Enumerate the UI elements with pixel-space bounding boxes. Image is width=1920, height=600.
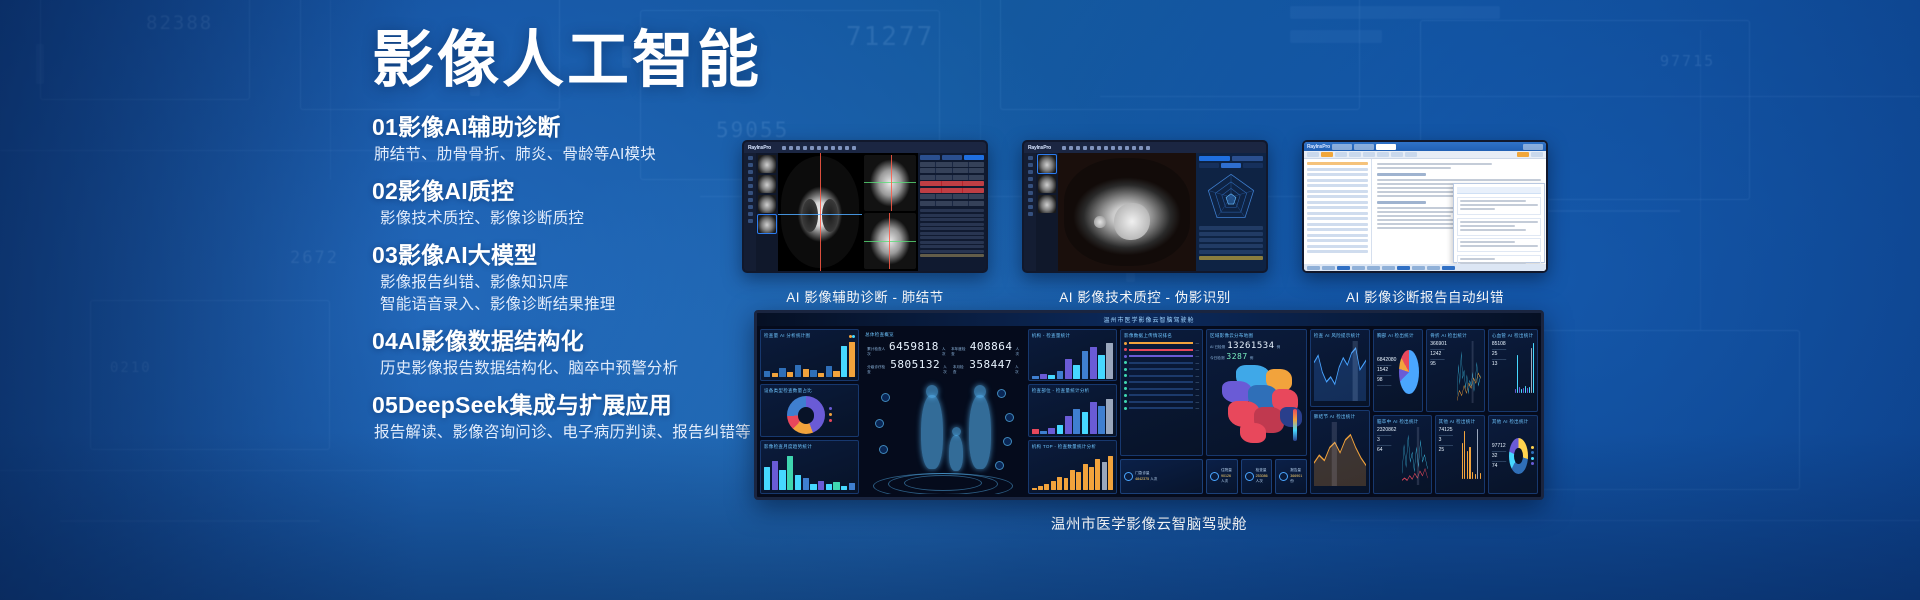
area-chart xyxy=(1314,422,1366,486)
tab[interactable] xyxy=(1354,144,1374,150)
kpi-stack: 85108 ———— 25 ———— 13 xyxy=(1492,341,1512,403)
series-thumbnail-list[interactable] xyxy=(756,153,778,271)
stat-chip[interactable]: 报告量 366901 份 xyxy=(1275,459,1307,494)
kpi-row: AI 已检测 13261534 例 xyxy=(1210,341,1303,351)
line-chart xyxy=(1402,427,1428,485)
donut-chart xyxy=(1509,438,1528,474)
kpi-unit: 人次 xyxy=(943,365,950,375)
qc-radar-chart xyxy=(1199,170,1263,224)
series-thumb[interactable] xyxy=(1038,195,1056,213)
dashboard-grid: 检查量 AI 分析统计图 设备类型检查数量占 xyxy=(757,326,1541,497)
hologram-hotspot xyxy=(997,389,1006,398)
kpi-stack: 97712 ———— 32 ———— 74 xyxy=(1492,443,1506,469)
finding-row-alert[interactable] xyxy=(920,188,984,193)
finding-row-alert[interactable] xyxy=(920,181,984,186)
dashboard-column-2: 总体检查概览 累计检查人次 6459818 人次 本年度检查 408864 人次… xyxy=(862,329,1025,494)
table-row[interactable]: — xyxy=(1124,367,1199,371)
chip-unit: 人次 xyxy=(1150,477,1157,481)
crosshair-vertical xyxy=(820,153,821,271)
app-logo: RayInsPro xyxy=(1307,144,1330,150)
mediastinum xyxy=(1114,203,1149,240)
dashboard-title-bar: 温州市医学影像云智脑驾驶舱 xyxy=(757,313,1541,326)
correction-card[interactable] xyxy=(1457,218,1541,236)
stat-chip[interactable]: 门急诊量 4842375 人次 xyxy=(1120,459,1203,494)
table-row[interactable]: — xyxy=(1124,354,1199,358)
hologram-hotspot xyxy=(879,445,888,454)
hologram-hotspot xyxy=(881,393,890,402)
panel-title: 总体检查概览 xyxy=(865,332,894,338)
stat-chip[interactable]: 住院量 90126 人次 xyxy=(1206,459,1238,494)
chip-value: 4842375 xyxy=(1135,477,1149,481)
panel-title: 其他 AI 检出统计 xyxy=(1492,419,1529,425)
dashboard-column-7: 胸部 AI 检出统计 6842080 ———— 1542 ———— 98 ———… xyxy=(1373,329,1538,494)
hud-number: 71277 xyxy=(846,22,934,52)
hologram-hotspot xyxy=(1005,413,1014,422)
panel-device-share-donut[interactable]: 设备类型检查数量占比 xyxy=(760,384,859,436)
table-row[interactable]: — xyxy=(1124,374,1199,378)
panel-other-ai-bar[interactable]: 其他 AI 检出统计 74125 ———— 3 ———— 25 xyxy=(1435,415,1485,494)
toolbar-icons xyxy=(782,146,856,150)
hologram-hotspot xyxy=(875,419,884,428)
chip-value: 253086 xyxy=(1256,474,1268,478)
panel-exam-volume-bar[interactable]: 检查量 AI 分析统计图 xyxy=(760,329,859,381)
thumbnail-caption: AI 影像技术质控 - 伪影识别 xyxy=(1022,286,1268,306)
kpi-value: 408864 xyxy=(970,340,1013,353)
region-map[interactable] xyxy=(1210,363,1303,445)
dashboard-screenshot[interactable]: 温州市医学影像云智脑驾驶舱 检查量 AI 分析统计图 xyxy=(754,310,1544,500)
report-icon xyxy=(1279,472,1288,481)
series-thumb[interactable] xyxy=(758,195,776,213)
stat-chip[interactable]: 检查量 253086 人次 xyxy=(1241,459,1273,494)
thumbnail-row: RayInsPro xyxy=(742,140,1548,306)
hospital-icon xyxy=(1124,472,1133,481)
hologram-ring xyxy=(904,475,982,491)
dashboard-column-4: 影像数据上传情况排名 — — — xyxy=(1120,329,1203,494)
app-body xyxy=(1024,153,1266,271)
feature-title: 01影像AI辅助诊断 xyxy=(372,113,842,142)
kpi-value: 6459818 xyxy=(889,340,939,353)
kpi-label: 今日检测 xyxy=(1210,356,1224,361)
figure-adult-right xyxy=(969,395,991,469)
correction-card[interactable] xyxy=(1457,197,1541,215)
pie-chart xyxy=(1399,350,1419,394)
panel-title: 胸部 AI 检出统计 xyxy=(1377,333,1414,339)
bar-chart xyxy=(1462,427,1481,479)
hologram-hotspot xyxy=(995,461,1004,470)
panel-bodypart-volume[interactable]: 检查部位 - 检查量统计分析 xyxy=(1028,384,1117,436)
qc-score-panel[interactable] xyxy=(1196,153,1266,271)
artifact-region xyxy=(1094,216,1105,228)
panel-other-ai-donut[interactable]: 其他 AI 检出统计 97712 ———— 32 ———— 74 xyxy=(1488,415,1538,494)
kpi-unit: 人次 xyxy=(1015,347,1021,357)
line-chart xyxy=(1314,341,1366,401)
shield-icon xyxy=(1245,472,1254,481)
bar-chart xyxy=(1032,341,1113,379)
axial-ct-viewport[interactable] xyxy=(778,153,862,271)
dashboard-block: 温州市医学影像云智脑驾驶舱 检查量 AI 分析统计图 xyxy=(754,310,1544,534)
kpi-label: 分级诊疗检查 xyxy=(867,365,887,375)
panel-title: 检查部位 - 检查量统计分析 xyxy=(1032,388,1090,394)
kpi-stack: 6842080 ———— 1542 ———— 98 ———— xyxy=(1377,357,1396,387)
dashboard-column-5: 区域影像云分布地图 AI 已检测 13261534 例 今日检测 3287 例 xyxy=(1206,329,1307,494)
ai-correction-popup[interactable] xyxy=(1453,183,1545,263)
panel-region-map[interactable]: 区域影像云分布地图 AI 已检测 13261534 例 今日检测 3287 例 xyxy=(1206,329,1307,456)
toolbar[interactable] xyxy=(1304,151,1546,159)
tab[interactable] xyxy=(1523,144,1543,150)
panel-population-overview[interactable]: 总体检查概览 累计检查人次 6459818 人次 本年度检查 408864 人次… xyxy=(862,329,1025,494)
kpi-stack: 2320862 ———— 3 ———— 64 xyxy=(1377,427,1399,485)
kpi-stack: 74125 ———— 3 ———— 25 xyxy=(1439,427,1459,485)
panel-cardio-ai[interactable]: 心血管 AI 检出统计 85108 ———— 25 ———— 13 xyxy=(1488,329,1538,412)
panel-upload-ranking[interactable]: 影像数据上传情况排名 — — — xyxy=(1120,329,1203,456)
thumbnail-caption: AI 影像辅助诊断 - 肺结节 xyxy=(742,286,988,306)
table-row[interactable]: — xyxy=(1124,393,1199,397)
panel-nodule-trend[interactable]: 肺结节 AI 检出统计 xyxy=(1310,410,1370,494)
stat-chip-row: 住院量 90126 人次 检查量 253086 人次 xyxy=(1206,459,1307,494)
bar-chart xyxy=(764,452,855,490)
panel-title: 影像数据上传情况排名 xyxy=(1124,333,1172,339)
kpi-value: 25 xyxy=(1439,447,1459,453)
panel-institution-top[interactable]: 机构 TOP - 检查数量统计分析 xyxy=(1028,440,1117,494)
panel-title: 机构 - 检查量统计 xyxy=(1032,333,1071,339)
dashboard-column-1: 检查量 AI 分析统计图 设备类型检查数量占 xyxy=(760,329,859,494)
panel-title: 脑卒中 AI 检出统计 xyxy=(1377,419,1419,425)
chip-value: 366901 xyxy=(1290,474,1302,478)
kpi-label: 累计检查人次 xyxy=(867,347,886,357)
chip-unit: 份 xyxy=(1290,479,1294,483)
panel-title: 心血管 AI 检出统计 xyxy=(1492,333,1534,339)
panel-title: 骨折 AI 检出统计 xyxy=(1430,333,1467,339)
correction-card[interactable] xyxy=(1457,238,1541,252)
panel-stroke-ai[interactable]: 脑卒中 AI 检出统计 2320862 ———— 3 ———— 64 xyxy=(1373,415,1432,494)
kpi-unit: 人次 xyxy=(1015,365,1022,375)
panel-title: 其他 AI 检出统计 xyxy=(1439,419,1476,425)
kpi-row: 今日检测 3287 例 xyxy=(1210,352,1303,361)
toolbar-icons xyxy=(1062,146,1150,150)
kpi-value: 13261534 xyxy=(1227,341,1274,351)
kpi-unit: 例 xyxy=(1250,356,1254,361)
panel-risk-trend[interactable]: 检查 AI 风险提示统计 xyxy=(1310,329,1370,407)
ct-viewport[interactable] xyxy=(1058,153,1196,271)
thumbnail-ai-lung-nodule[interactable]: RayInsPro xyxy=(742,140,988,306)
dashboard-column-3: 机构 - 检查量统计 检查部位 - 检查量统计分析 xyxy=(1028,329,1117,494)
screenshot-frame: RayInsPro xyxy=(742,140,988,273)
thumbnail-report-autocorrect[interactable]: RayInsPro xyxy=(1302,140,1548,306)
kpi-value: 3287 xyxy=(1226,352,1247,361)
table-row[interactable]: — xyxy=(1124,341,1199,345)
hologram-figure-group xyxy=(865,379,1022,494)
table-row[interactable]: — xyxy=(1124,400,1199,404)
kpi-value: 5805132 xyxy=(890,358,940,371)
kpi-stack: 366901 ———— 1242 ———— 95 xyxy=(1430,341,1454,403)
table-row[interactable]: — xyxy=(1124,406,1199,410)
kpi-label: 本年度检查 xyxy=(951,347,967,357)
map-region xyxy=(1280,407,1302,427)
thumbnail-ai-qc-artifact[interactable]: RayInsPro xyxy=(1022,140,1268,306)
series-thumb[interactable] xyxy=(758,215,776,233)
kpi-row: 分级诊疗检查 5805132 人次 本月检查 358447 人次 xyxy=(867,358,1022,375)
table-row[interactable]: — xyxy=(1124,361,1199,365)
worklist-tree[interactable] xyxy=(1304,159,1372,271)
series-thumb[interactable] xyxy=(758,175,776,193)
dashboard-caption: 温州市医学影像云智脑驾驶舱 xyxy=(754,513,1544,534)
coronal-view[interactable] xyxy=(864,155,916,211)
chip-unit: 人次 xyxy=(1221,479,1228,483)
bar-chart xyxy=(764,341,855,377)
panel-title: 区域影像云分布地图 xyxy=(1210,333,1253,339)
chip-value: 90126 xyxy=(1221,474,1231,478)
panel-chest-ai-pie[interactable]: 胸部 AI 检出统计 6842080 ———— 1542 ———— 98 ———… xyxy=(1373,329,1423,412)
left-toolbar[interactable] xyxy=(1024,153,1036,271)
report-app: RayInsPro xyxy=(1304,142,1546,271)
tab-active[interactable] xyxy=(1376,144,1396,150)
popup-header xyxy=(1457,187,1541,194)
table-row[interactable]: — xyxy=(1124,387,1199,391)
line-chart xyxy=(1457,341,1481,403)
figure-head-child xyxy=(952,427,961,436)
action-bar[interactable] xyxy=(1304,264,1546,271)
hologram-hotspot xyxy=(1003,437,1012,446)
secondary-viewports[interactable] xyxy=(862,153,918,271)
panel-title: 检查 AI 风险提示统计 xyxy=(1314,333,1360,339)
app-titlebar: RayInsPro xyxy=(1024,142,1266,153)
map-region xyxy=(1240,423,1266,443)
user-icon xyxy=(1210,472,1219,481)
series-thumb[interactable] xyxy=(1038,155,1056,173)
kpi-value: 358447 xyxy=(969,358,1012,371)
figure-head-left xyxy=(926,385,938,398)
app-titlebar: RayInsPro xyxy=(1304,142,1546,151)
app-logo: RayInsPro xyxy=(1028,145,1051,151)
ranking-table: — — — — xyxy=(1124,341,1199,410)
sagittal-view[interactable] xyxy=(864,213,916,269)
kpi-unit: 人次 xyxy=(942,347,948,357)
panel-title: 影像检查月度趋势统计 xyxy=(764,444,812,450)
app-titlebar: RayInsPro xyxy=(744,142,986,153)
map-legend-gradient xyxy=(1293,409,1297,441)
panel-title: 机构 TOP - 检查数量统计分析 xyxy=(1032,444,1096,450)
qc-alert-row[interactable] xyxy=(1199,256,1263,260)
thumbnail-caption: AI 影像诊断报告自动纠错 xyxy=(1302,286,1548,306)
kpi-row: 累计检查人次 6459818 人次 本年度检查 408864 人次 xyxy=(867,340,1022,357)
series-thumb[interactable] xyxy=(758,155,776,173)
dashboard-title: 温州市医学影像云智脑驾驶舱 xyxy=(1103,315,1194,324)
panel-title: 检查量 AI 分析统计图 xyxy=(764,333,810,339)
stat-chip-row: 门急诊量 4842375 人次 xyxy=(1120,459,1203,494)
page-title: 影像人工智能 xyxy=(372,28,842,95)
figure-head-right xyxy=(974,385,986,398)
table-row[interactable]: — xyxy=(1124,380,1199,384)
ai-findings-panel[interactable] xyxy=(918,153,986,271)
bar-chart xyxy=(1032,452,1113,490)
app-body xyxy=(744,153,986,271)
ct-chest-slice xyxy=(1064,158,1190,266)
bar-chart xyxy=(1515,341,1534,393)
kpi-value: 13 xyxy=(1492,361,1512,367)
series-thumbnail-list[interactable] xyxy=(1036,153,1058,271)
figure-child xyxy=(949,435,963,471)
table-row[interactable]: — xyxy=(1124,348,1199,352)
bar-chart xyxy=(1032,396,1113,434)
kpi-label: AI 已检测 xyxy=(1210,345,1225,350)
left-toolbar[interactable] xyxy=(744,153,756,271)
kpi-value: 74 xyxy=(1492,463,1506,469)
tab[interactable] xyxy=(1332,144,1352,150)
kpi-label: 本月检查 xyxy=(953,365,966,375)
panel-fracture-ai[interactable]: 骨折 AI 检出统计 366901 ———— 1242 ———— 95 xyxy=(1426,329,1485,412)
app-logo: RayInsPro xyxy=(748,145,771,151)
kpi-value: 64 xyxy=(1377,447,1399,453)
screenshot-frame: RayInsPro xyxy=(1302,140,1548,273)
kpi-value: 95 xyxy=(1430,361,1454,367)
chip-unit: 人次 xyxy=(1256,479,1263,483)
hud-number: 97715 xyxy=(1660,52,1715,70)
panel-title: 设备类型检查数量占比 xyxy=(764,388,812,394)
panel-title: 肺结节 AI 检出统计 xyxy=(1314,414,1356,420)
kpi-unit: 例 xyxy=(1277,345,1281,350)
panel-monthly-trend[interactable]: 影像检查月度趋势统计 xyxy=(760,440,859,494)
panel-institution-volume[interactable]: 机构 - 检查量统计 xyxy=(1028,329,1117,381)
dashboard-column-6: 检查 AI 风险提示统计 肺结节 AI 检出统计 xyxy=(1310,329,1370,494)
series-thumb[interactable] xyxy=(1038,175,1056,193)
donut-chart xyxy=(787,396,825,434)
screenshot-frame: RayInsPro xyxy=(1022,140,1268,273)
figure-adult-left xyxy=(921,395,943,469)
